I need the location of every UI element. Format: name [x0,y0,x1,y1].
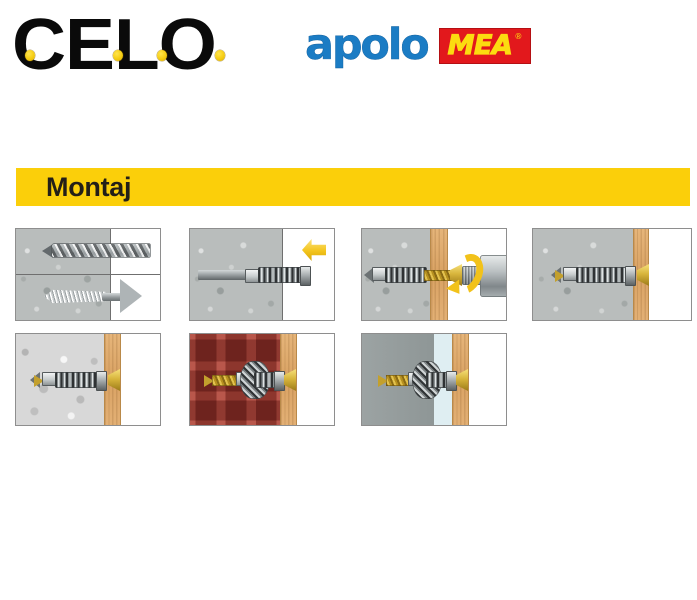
montaj-section-banner: Montaj [16,168,690,206]
step-panel-6: Fixing expanded inside hollow clay brick [189,333,335,426]
cleaning-brush-handle-icon [102,293,122,301]
step-panel-4: Completed fixing in concrete with timber… [532,228,692,321]
screw-shank-icon [212,375,238,386]
registered-trademark-icon: ® [514,33,522,41]
celo-wordmark: CELO [12,10,293,80]
celo-logo: CELO [12,10,282,80]
mea-badge: MEA ® [439,28,532,64]
power-driver-body-icon [480,255,507,297]
celo-dot-icon [157,50,167,61]
anchor-collar-icon [625,266,636,286]
apolo-mea-logo: apolo MEA ® [305,22,531,68]
step-panel-2: Insert frame anchor into drilled hole [189,228,335,321]
drilled-hole-icon [198,270,246,280]
anchor-sleeve-icon [576,267,626,283]
step-panel-5: Fixing set in aerated concrete block [15,333,161,426]
screw-shank-icon [386,375,410,386]
installation-steps: Drill hole in concrete then clean hole w… [0,228,697,438]
apolo-wordmark: apolo [305,23,428,67]
step-row-1: Drill hole in concrete then clean hole w… [0,228,697,324]
anchor-sleeve-icon [426,372,448,388]
page-header: CELO apolo MEA ® [0,0,697,100]
cleaning-brush-cone-icon [120,279,142,313]
celo-dot-icon [215,50,225,61]
celo-dot-icon [113,50,123,61]
anchor-sleeve-icon [254,372,276,388]
anchor-sleeve-icon [258,267,302,283]
anchor-sleeve-icon [385,267,427,283]
anchor-collar-icon [274,371,285,391]
anchor-collar-icon [300,266,311,286]
anchor-collar-icon [446,371,457,391]
mea-badge-text: MEA [448,32,513,59]
step-panel-3: Drive screw with power driver through ti… [361,228,507,321]
celo-dot-icon [25,50,35,61]
drill-bit-icon [52,244,150,257]
step-row-2: Fixing set in aerated concrete block Fix… [0,333,697,429]
anchor-collar-icon [96,371,107,391]
page-title: Montaj [46,172,131,203]
panel-divider-horizontal [16,274,160,275]
anchor-sleeve-icon [55,372,97,388]
step-panel-7: Fixing expanded behind plasterboard pane… [361,333,507,426]
step-panel-1: Drill hole in concrete then clean hole w… [15,228,161,321]
